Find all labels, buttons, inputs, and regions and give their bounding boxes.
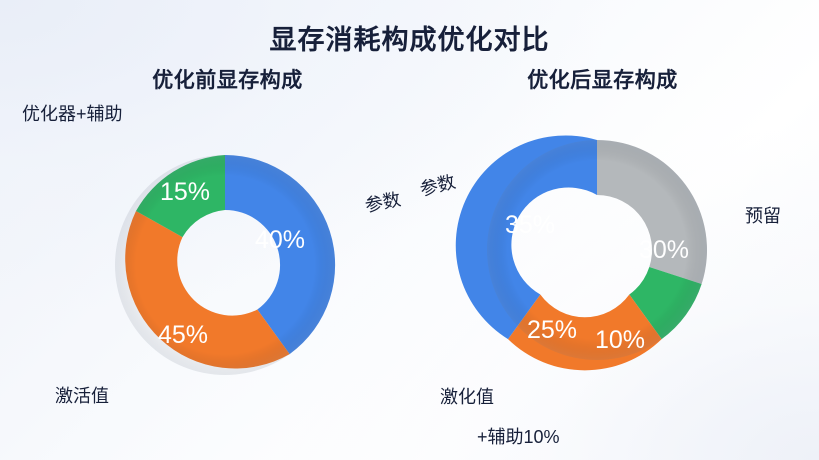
right-label-reserved: 预留 [745, 202, 781, 228]
right-label-activation: 激化值 [440, 383, 494, 409]
right-donut-chart: 30% 10% 25% 35% [472, 125, 722, 375]
left-value-optimizer: 15% [160, 178, 210, 206]
left-donut-chart: 40% 45% 15% [100, 140, 350, 390]
left-value-activation: 45% [158, 321, 208, 349]
right-value-param: 35% [505, 211, 555, 239]
right-value-aux: 10% [595, 326, 645, 354]
chart-canvas: 显存消耗构成优化对比 优化前显存构成 优化后显存构成 40% 45% 15% [0, 0, 819, 460]
left-value-param: 40% [255, 226, 305, 254]
right-value-activation: 25% [527, 316, 577, 344]
right-label-aux: +辅助10% [477, 423, 560, 449]
right-donut-svg: 30% 10% 25% 35% [472, 125, 722, 375]
left-label-activation: 激活值 [55, 382, 109, 408]
right-chart-subtitle: 优化后显存构成 [470, 64, 735, 94]
left-label-optimizer: 优化器+辅助 [22, 100, 123, 126]
right-label-param: 参数 [417, 168, 458, 202]
left-label-param: 参数 [363, 185, 403, 217]
page-title: 显存消耗构成优化对比 [0, 18, 819, 57]
right-value-reserved: 30% [639, 236, 689, 264]
left-donut-shadow [115, 155, 335, 375]
left-chart-subtitle: 优化前显存构成 [95, 64, 360, 94]
left-donut-svg: 40% 45% 15% [100, 140, 350, 390]
